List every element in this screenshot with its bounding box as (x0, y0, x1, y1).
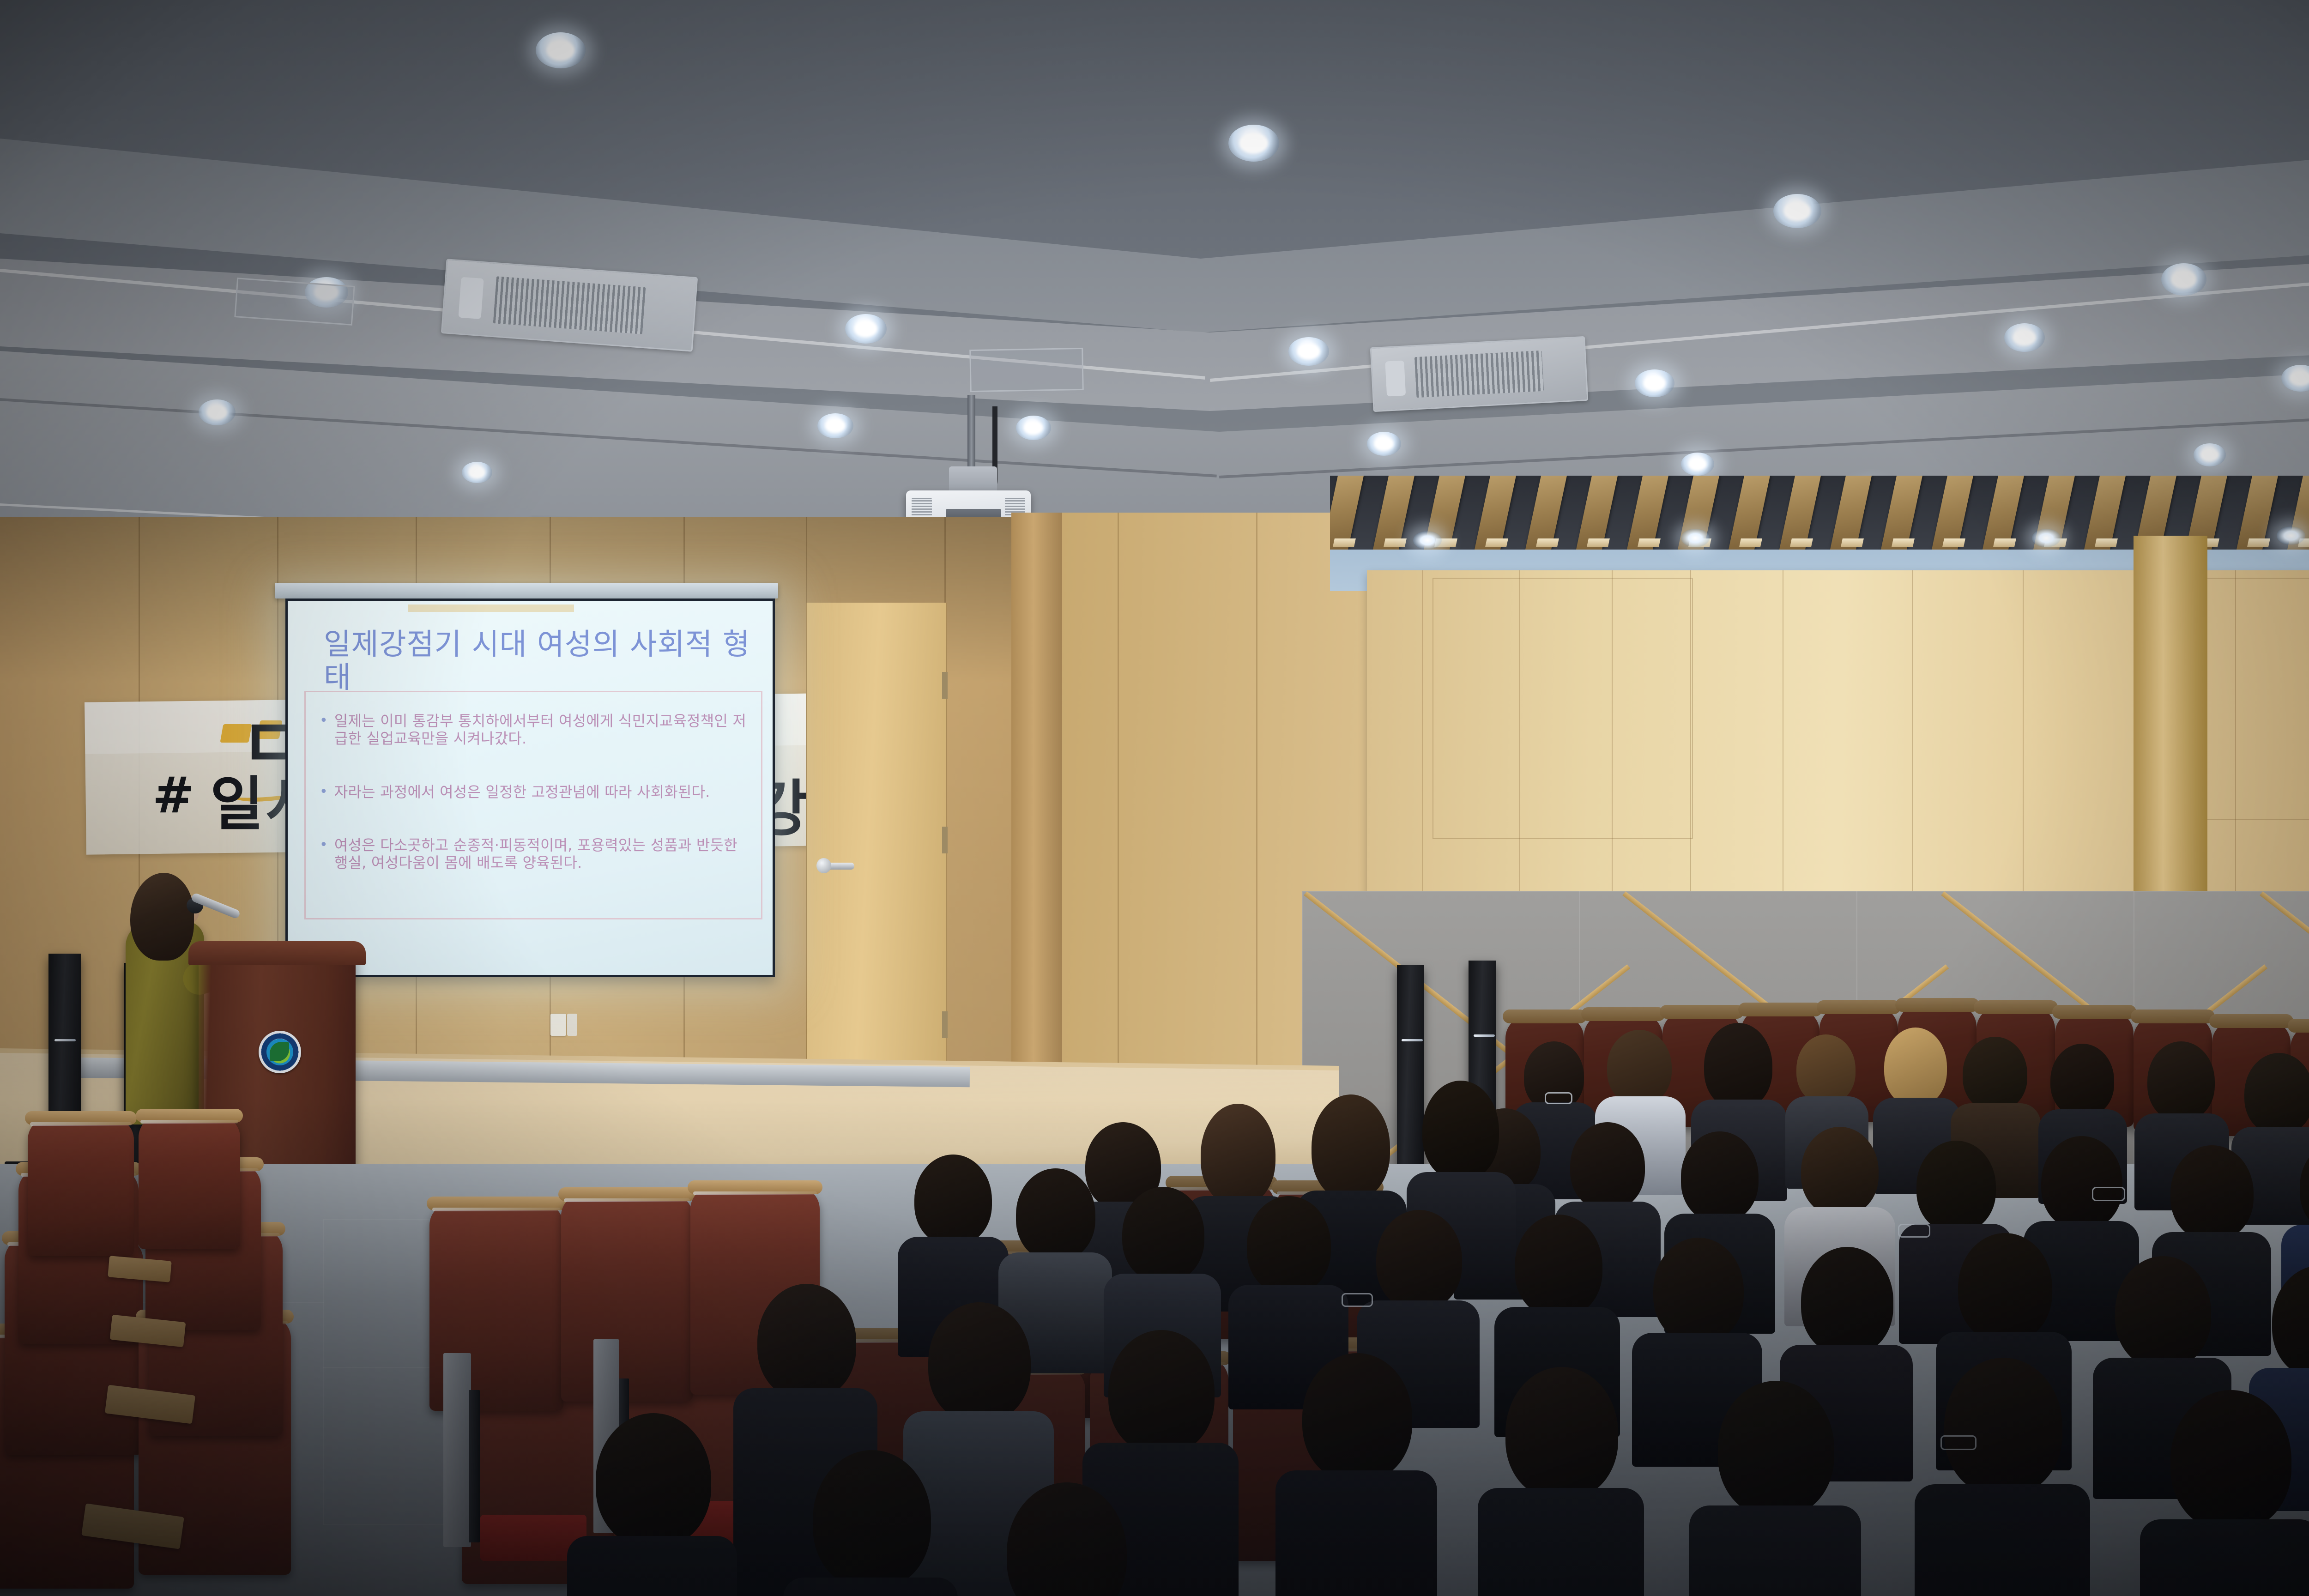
ceiling-downlight (2161, 263, 2206, 296)
ceiling-downlight (199, 399, 236, 425)
baffle-spotlight (2277, 526, 2305, 545)
ceiling-downlight (2004, 323, 2045, 352)
auditorium-seat[interactable] (561, 1194, 693, 1402)
ceiling-vent-rect (234, 278, 355, 326)
slide-bullet-1: • 일제는 이미 통감부 통치하에서부터 여성에게 식민지교육정책인 저급한 실… (320, 713, 749, 748)
ceiling-downlight (462, 462, 492, 483)
ceiling-downlight (2194, 443, 2226, 466)
hall-door[interactable] (806, 603, 947, 1069)
auditorium-photo: ㅁ # 일시 강당 일제강점기 시대 여성의 사회적 형태 • 일제는 이미 통… (0, 0, 2309, 1596)
door-hinge (942, 827, 948, 853)
bullet-text: 여성은 다소곳하고 순종적·피동적이며, 포용력있는 성품과 반듯한 행실, 여… (334, 837, 749, 872)
baffle-spotlight (1413, 531, 1442, 550)
auditorium-seat[interactable] (28, 1118, 134, 1256)
presenter-hair (130, 873, 194, 961)
bullet-marker: • (320, 784, 328, 801)
podium-top (188, 941, 366, 965)
ceiling-access-panel (969, 348, 1084, 392)
seat-frame (443, 1353, 471, 1547)
ceiling-downlight (536, 32, 586, 68)
door-hinge (942, 1011, 948, 1038)
ceiling (0, 0, 2309, 545)
ac-cassette-vent (1370, 336, 1589, 412)
ac-grille (493, 276, 646, 334)
bullet-text: 일제는 이미 통감부 통치하에서부터 여성에게 식민지교육정책인 저급한 실업교… (334, 713, 749, 748)
door-handle-rose (816, 858, 831, 873)
projection-screen: 일제강점기 시대 여성의 사회적 형태 • 일제는 이미 통감부 통치하에서부터… (285, 598, 775, 977)
slide-bullet-3: • 여성은 다소곳하고 순종적·피동적이며, 포용력있는 성품과 반듯한 행실,… (320, 837, 749, 872)
eyeglasses (1342, 1293, 1373, 1307)
ceiling-downlight (1016, 416, 1051, 440)
bullet-marker: • (320, 837, 328, 872)
eyeglasses (2092, 1187, 2125, 1201)
ac-louver (459, 277, 484, 319)
school-emblem (259, 1031, 301, 1073)
ceiling-downlight (1228, 125, 1279, 162)
auditorium-seat[interactable] (139, 1115, 240, 1249)
tower-speaker-right (1397, 965, 1424, 1196)
ceiling-downlight (1288, 337, 1329, 366)
wall-switch[interactable] (567, 1014, 577, 1036)
wall-corner-column (1011, 513, 1067, 1071)
ac-louver (1385, 361, 1406, 396)
banner-hash-symbol: # (152, 767, 195, 824)
slide-bullet-2: • 자라는 과정에서 여성은 일정한 고정관념에 따라 사회화된다. (320, 784, 749, 801)
ceiling-downlight (1773, 194, 1821, 228)
ceiling-downlight (845, 314, 887, 344)
ceiling-downlight (1635, 369, 1674, 397)
ceiling-downlight (1367, 432, 1401, 456)
wall-outlet[interactable] (550, 1014, 566, 1036)
ac-grille (1414, 351, 1544, 398)
seat-support-leg (469, 1390, 480, 1542)
eyeglasses (1898, 1224, 1930, 1238)
slide-header-band (408, 605, 574, 612)
ceiling-downlight (817, 413, 853, 438)
ceiling-downlight (1681, 453, 1714, 476)
eyeglasses (1545, 1092, 1572, 1104)
slide-title: 일제강점기 시대 여성의 사회적 형태 (324, 629, 754, 695)
slide-body: • 일제는 이미 통감부 통치하에서부터 여성에게 식민지교육정책인 저급한 실… (304, 691, 762, 919)
baffle-spotlight (2032, 529, 2061, 547)
door-hinge (942, 672, 948, 699)
baffle-spotlight (1681, 529, 1710, 547)
bullet-marker: • (320, 713, 328, 748)
projection-screen-housing (275, 583, 778, 598)
bullet-text: 자라는 과정에서 여성은 일정한 고정관념에 따라 사회화된다. (334, 784, 749, 801)
